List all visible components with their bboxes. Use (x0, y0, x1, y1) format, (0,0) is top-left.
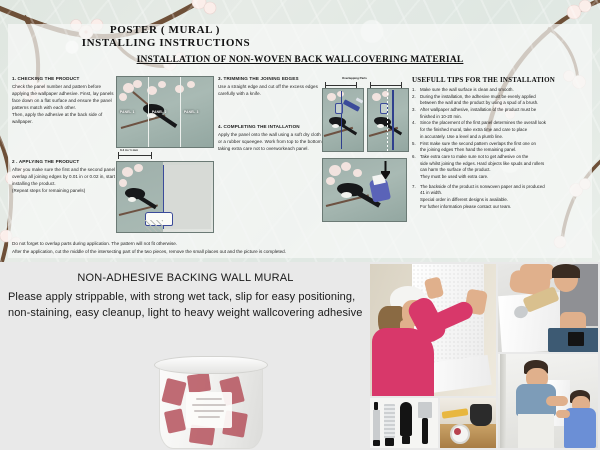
photo-tools (370, 398, 438, 448)
tip-item: 6.Take extra care to make sure not to ge… (412, 154, 590, 181)
step-3-body: Use a straight edge and cut off the exce… (218, 84, 324, 98)
trim-diagram-knife (322, 88, 364, 152)
step-4-heading: 4. COMPLETING THE INTALLATION (218, 124, 324, 130)
tip-subtext: the joining edges Then hand the remainin… (420, 147, 590, 154)
overlapping-parts-row: Overlapping Parts (322, 76, 414, 88)
panel-label-2: PANEL 2 (152, 110, 167, 114)
step-1: 1. CHECKING THE PRODUCT Check the panel … (12, 76, 116, 126)
tip-item: 4.Since the placement of the first panel… (412, 120, 590, 140)
tip-text: The backside of the product is nonwoven … (420, 184, 590, 211)
tip-text: Since the placement of the first panel d… (420, 120, 590, 140)
three-panel-diagram: PANEL 1 PANEL 2 PANEL 3 (116, 76, 214, 148)
completing-installation-diagram (322, 158, 407, 222)
tip-subtext: finished in 10-20 min. (420, 114, 590, 121)
tip-subtext: between the wall and the product by usin… (420, 100, 590, 107)
steps-grid: 1. CHECKING THE PRODUCT Check the panel … (8, 76, 592, 236)
promo-block: NON-ADHESIVE BACKING WALL MURAL Please a… (8, 266, 363, 321)
applying-product-diagram (116, 161, 214, 233)
tip-text: During the installation, the adhesive mu… (420, 94, 590, 107)
tips-list: 1.Make sure the wall surface is clean an… (412, 87, 590, 210)
tip-subtext: for the finished mural, take extra time … (420, 127, 590, 140)
poster-title-line2: INSTALLING INSTRUCTIONS (0, 37, 592, 49)
note-line-2: After the application, cut the middle of… (12, 248, 572, 256)
overlap-dimension-row: 0.4 in / 1 mm (116, 148, 216, 161)
tip-text: After wallpaper adhesive, installation o… (420, 107, 590, 120)
tip-item: 7.The backside of the product is nonwove… (412, 184, 590, 211)
tip-number: 1. (412, 87, 418, 94)
photo-workbench (440, 398, 496, 448)
panel-label-3: PANEL 3 (184, 110, 199, 114)
hand (556, 410, 570, 418)
tip-text: First make sure the second pattern overl… (420, 141, 590, 154)
straight-edge-icon (392, 90, 394, 150)
diagram-column-panels: PANEL 1 PANEL 2 PANEL 3 0.4 in / 1 mm (116, 76, 216, 233)
tip-number: 2. (412, 94, 418, 107)
step-3: 3. TRIMMING THE JOINING EDGES Use a stra… (218, 76, 324, 98)
tip-text: Make sure the wall surface is clean and … (420, 87, 590, 94)
hand (546, 396, 568, 406)
panel-label-1: PANEL 1 (120, 110, 135, 114)
tip-item: 1.Make sure the wall surface is clean an… (412, 87, 590, 94)
adhesive-bucket-image (152, 356, 268, 448)
tip-number: 6. (412, 154, 418, 181)
step-4-body: Apply the panel onto the wall using a so… (218, 132, 324, 153)
note-line-1: Do not forget to overlap parts during ap… (12, 240, 572, 248)
instruction-card: POSTER ( MURAL ) INSTALLING INSTRUCTIONS… (8, 24, 592, 258)
poster-subtitle: INSTALLATION OF NON-WOVEN BACK WALLCOVER… (8, 55, 592, 65)
step-3-heading: 3. TRIMMING THE JOINING EDGES (218, 76, 324, 82)
step-2: 2 . APPLYING THE PRODUCT After you make … (12, 159, 116, 195)
steps-column-left: 1. CHECKING THE PRODUCT Check the panel … (12, 76, 116, 195)
overlap-dimension-label: 0.4 in / 1 mm (120, 148, 138, 152)
step-2-heading: 2 . APPLYING THE PRODUCT (12, 159, 116, 165)
steps-column-right: 3. TRIMMING THE JOINING EDGES Use a stra… (218, 76, 324, 153)
tips-column: USEFULL TIPS FOR THE INSTALLATION 1.Make… (412, 76, 590, 210)
trim-diagram-pair (322, 88, 414, 152)
step-1-heading: 1. CHECKING THE PRODUCT (12, 76, 116, 82)
footer-notes: Do not forget to overlap parts during ap… (12, 240, 572, 256)
tip-text: Take extra care to make sure not to get … (420, 154, 590, 181)
promo-heading: NON-ADHESIVE BACKING WALL MURAL (8, 272, 363, 284)
tips-heading: USEFULL TIPS FOR THE INSTALLATION (412, 76, 590, 84)
tip-number: 5. (412, 141, 418, 154)
tip-subtext: 41 in width. Special order in different … (420, 190, 590, 210)
trim-diagram-straightedge (367, 88, 409, 152)
photo-roller-on-paper (498, 264, 598, 352)
photo-woman-hanging-wallpaper (370, 264, 496, 396)
tip-item: 5.First make sure the second pattern ove… (412, 141, 590, 154)
tip-number: 4. (412, 120, 418, 140)
step-4: 4. COMPLETING THE INTALLATION Apply the … (218, 124, 324, 153)
tip-item: 3.After wallpaper adhesive, installation… (412, 107, 590, 120)
tip-subtext: side whilst joining the edges. Hard obje… (420, 161, 590, 181)
poster-page: POSTER ( MURAL ) INSTALLING INSTRUCTIONS… (0, 0, 600, 450)
tip-number: 3. (412, 107, 418, 120)
down-arrow-icon (381, 161, 390, 184)
tip-number: 7. (412, 184, 418, 211)
diagram-column-trim: Overlapping Parts (322, 76, 414, 222)
tip-item: 2.During the installation, the adhesive … (412, 94, 590, 107)
photo-collage (370, 264, 598, 448)
lower-band: NON-ADHESIVE BACKING WALL MURAL Please a… (0, 262, 600, 450)
photo-man-and-child (498, 354, 598, 448)
poster-title-line1: POSTER ( MURAL ) (0, 24, 592, 36)
title-block: POSTER ( MURAL ) INSTALLING INSTRUCTIONS… (8, 24, 592, 65)
promo-body: Please apply strippable, with strong wet… (8, 290, 363, 321)
step-2-body: After you make sure the first and the se… (12, 167, 116, 195)
step-1-body: Check the panel number and pattern befor… (12, 84, 116, 126)
overlapping-parts-label: Overlapping Parts (342, 76, 367, 80)
